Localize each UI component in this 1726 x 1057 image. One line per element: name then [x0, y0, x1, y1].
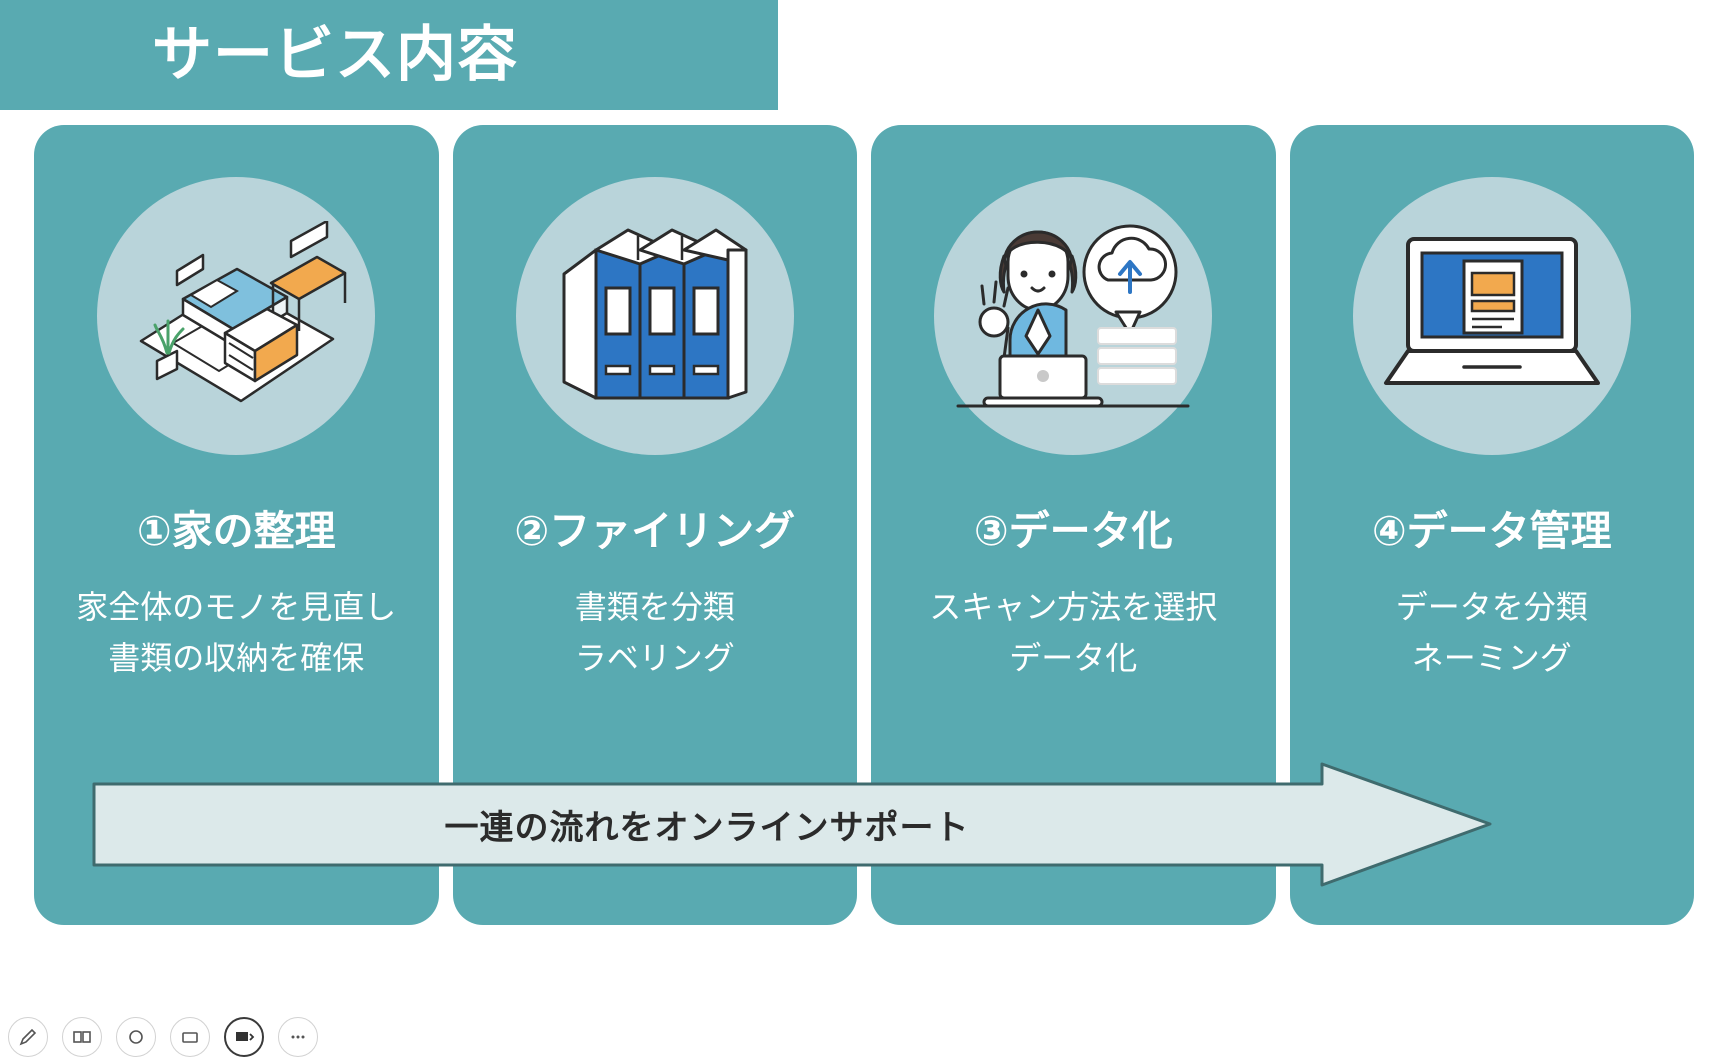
card-desc-3: スキャン方法を選択 データ化 [929, 582, 1217, 684]
card-desc-line: 書類を分類 [575, 582, 735, 633]
presenter-view-icon[interactable] [224, 1017, 264, 1057]
card-title-3: ③データ化 [974, 509, 1173, 554]
card-desc-4: データを分類 ネーミング [1396, 582, 1588, 684]
card-title-1: ①家の整理 [137, 509, 336, 554]
card-desc-line: 家全体のモノを見直し [76, 582, 396, 633]
bottom-toolbar [0, 1017, 1726, 1045]
icon-circle-2 [516, 177, 794, 455]
icon-circle-1 [97, 177, 375, 455]
card-desc-1: 家全体のモノを見直し 書類の収納を確保 [76, 582, 396, 684]
pointer-icon[interactable] [116, 1017, 156, 1057]
laptop-document-icon [1372, 231, 1612, 401]
card-desc-line: 書類の収納を確保 [76, 633, 396, 684]
card-desc-line: スキャン方法を選択 [929, 582, 1217, 633]
icon-circle-4 [1353, 177, 1631, 455]
card-title-4: ④データ管理 [1372, 509, 1612, 554]
card-desc-line: データを分類 [1396, 582, 1588, 633]
woman-laptop-upload-icon [948, 216, 1198, 416]
arrow-banner-label: 一連の流れをオンラインサポート [92, 762, 1322, 887]
card-desc-2: 書類を分類 ラベリング [575, 582, 735, 684]
page-title: サービス内容 [152, 25, 518, 85]
arrow-banner[interactable]: 一連の流れをオンラインサポート [92, 762, 1492, 887]
title-banner: サービス内容 [0, 0, 778, 110]
card-desc-line: ネーミング [1396, 633, 1588, 684]
more-options-icon[interactable] [278, 1017, 318, 1057]
binders-icon [550, 216, 760, 416]
room-tidy-icon [121, 221, 351, 411]
slide-layout-icon[interactable] [62, 1017, 102, 1057]
rectangle-icon[interactable] [170, 1017, 210, 1057]
card-desc-line: ラベリング [575, 633, 735, 684]
card-desc-line: データ化 [929, 633, 1217, 684]
icon-circle-3 [934, 177, 1212, 455]
card-title-2: ②ファイリング [514, 509, 795, 554]
pen-icon[interactable] [8, 1017, 48, 1057]
